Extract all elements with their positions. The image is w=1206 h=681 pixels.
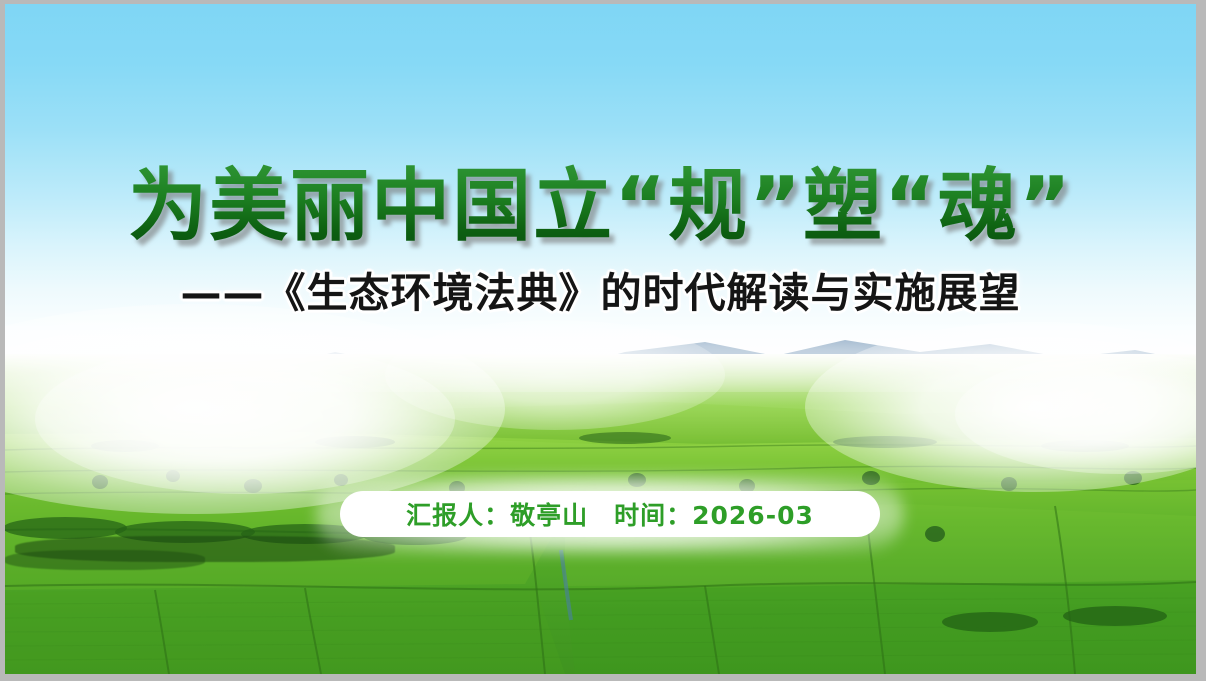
slide-frame: 为美丽中国立“规”塑“魂” ——《生态环境法典》的时代解读与实施展望 汇报人：敬… [0, 0, 1206, 681]
slide-canvas: 为美丽中国立“规”塑“魂” ——《生态环境法典》的时代解读与实施展望 汇报人：敬… [5, 4, 1196, 674]
page-subtitle: ——《生态环境法典》的时代解读与实施展望 [5, 271, 1196, 316]
presenter-info-text: 汇报人：敬亭山 时间：2026-03 [406, 496, 814, 532]
presenter-pill: 汇报人：敬亭山 时间：2026-03 [340, 491, 880, 537]
hedgerow-foreground-left-2 [5, 550, 205, 570]
page-title: 为美丽中国立“规”塑“魂” [5, 164, 1196, 249]
title-block: 为美丽中国立“规”塑“魂” ——《生态环境法典》的时代解读与实施展望 [5, 164, 1196, 316]
